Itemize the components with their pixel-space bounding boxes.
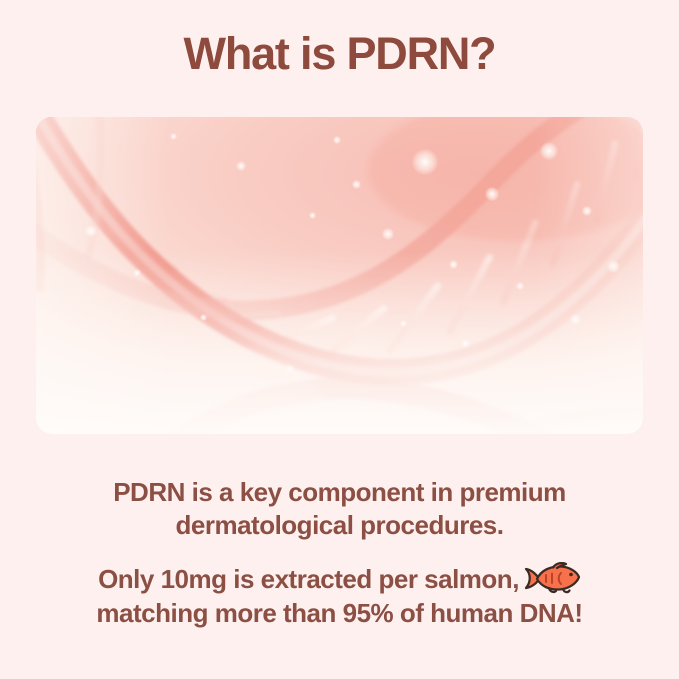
infographic-page: What is PDRN? (0, 0, 679, 679)
description-paragraph-2: Only 10mg is extracted per salmon, (0, 562, 679, 631)
description-line-2: dermatological procedures. (0, 509, 679, 542)
salmon-line-2: matching more than 95% of human DNA! (0, 597, 679, 631)
salmon-fish-icon (523, 562, 581, 594)
dna-double-helix-image (36, 117, 643, 434)
page-title: What is PDRN? (0, 28, 679, 80)
hero-fade-overlay (36, 117, 643, 434)
salmon-line-1: Only 10mg is extracted per salmon, (0, 562, 679, 597)
description-paragraph-1: PDRN is a key component in premium derma… (0, 476, 679, 541)
salmon-line-1-text: Only 10mg is extracted per salmon, (98, 564, 519, 594)
description-line-1: PDRN is a key component in premium (0, 476, 679, 509)
